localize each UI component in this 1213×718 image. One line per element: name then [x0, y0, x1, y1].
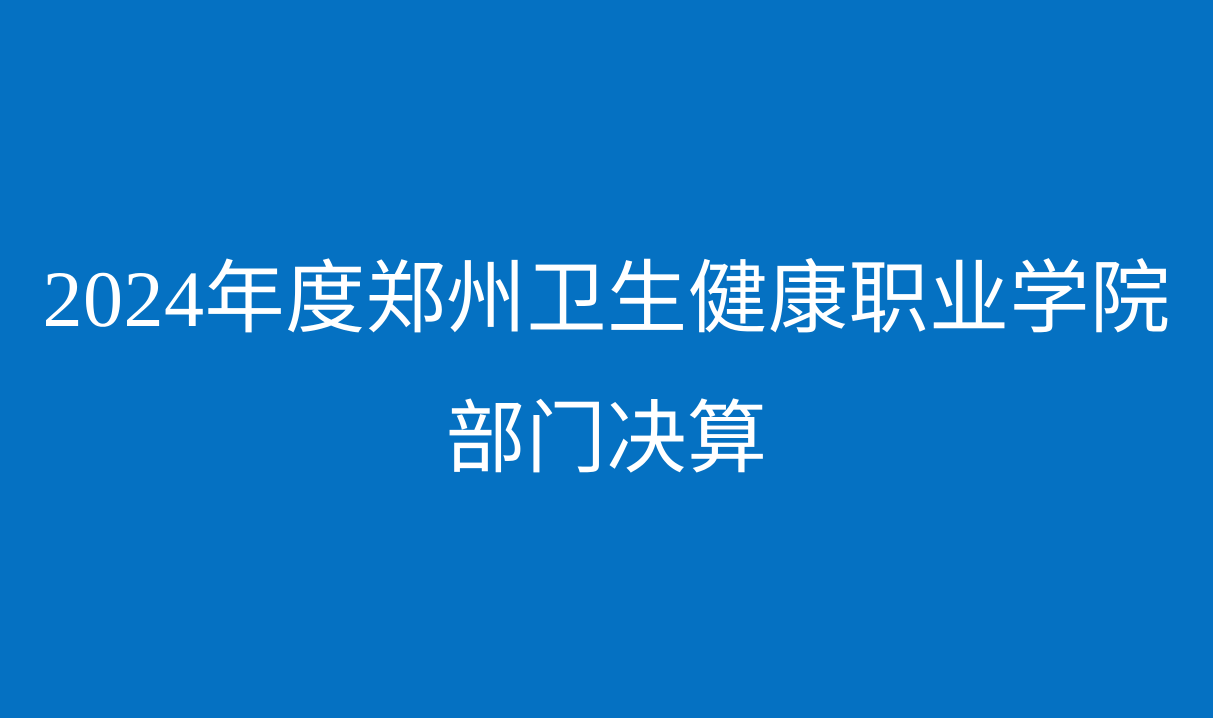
cover-slide: 2024年度郑州卫生健康职业学院 部门决算	[0, 0, 1213, 718]
cover-title-block: 2024年度郑州卫生健康职业学院 部门决算	[0, 230, 1213, 510]
page-title-line-1: 2024年度郑州卫生健康职业学院	[0, 230, 1213, 370]
page-title-line-2: 部门决算	[0, 370, 1213, 510]
